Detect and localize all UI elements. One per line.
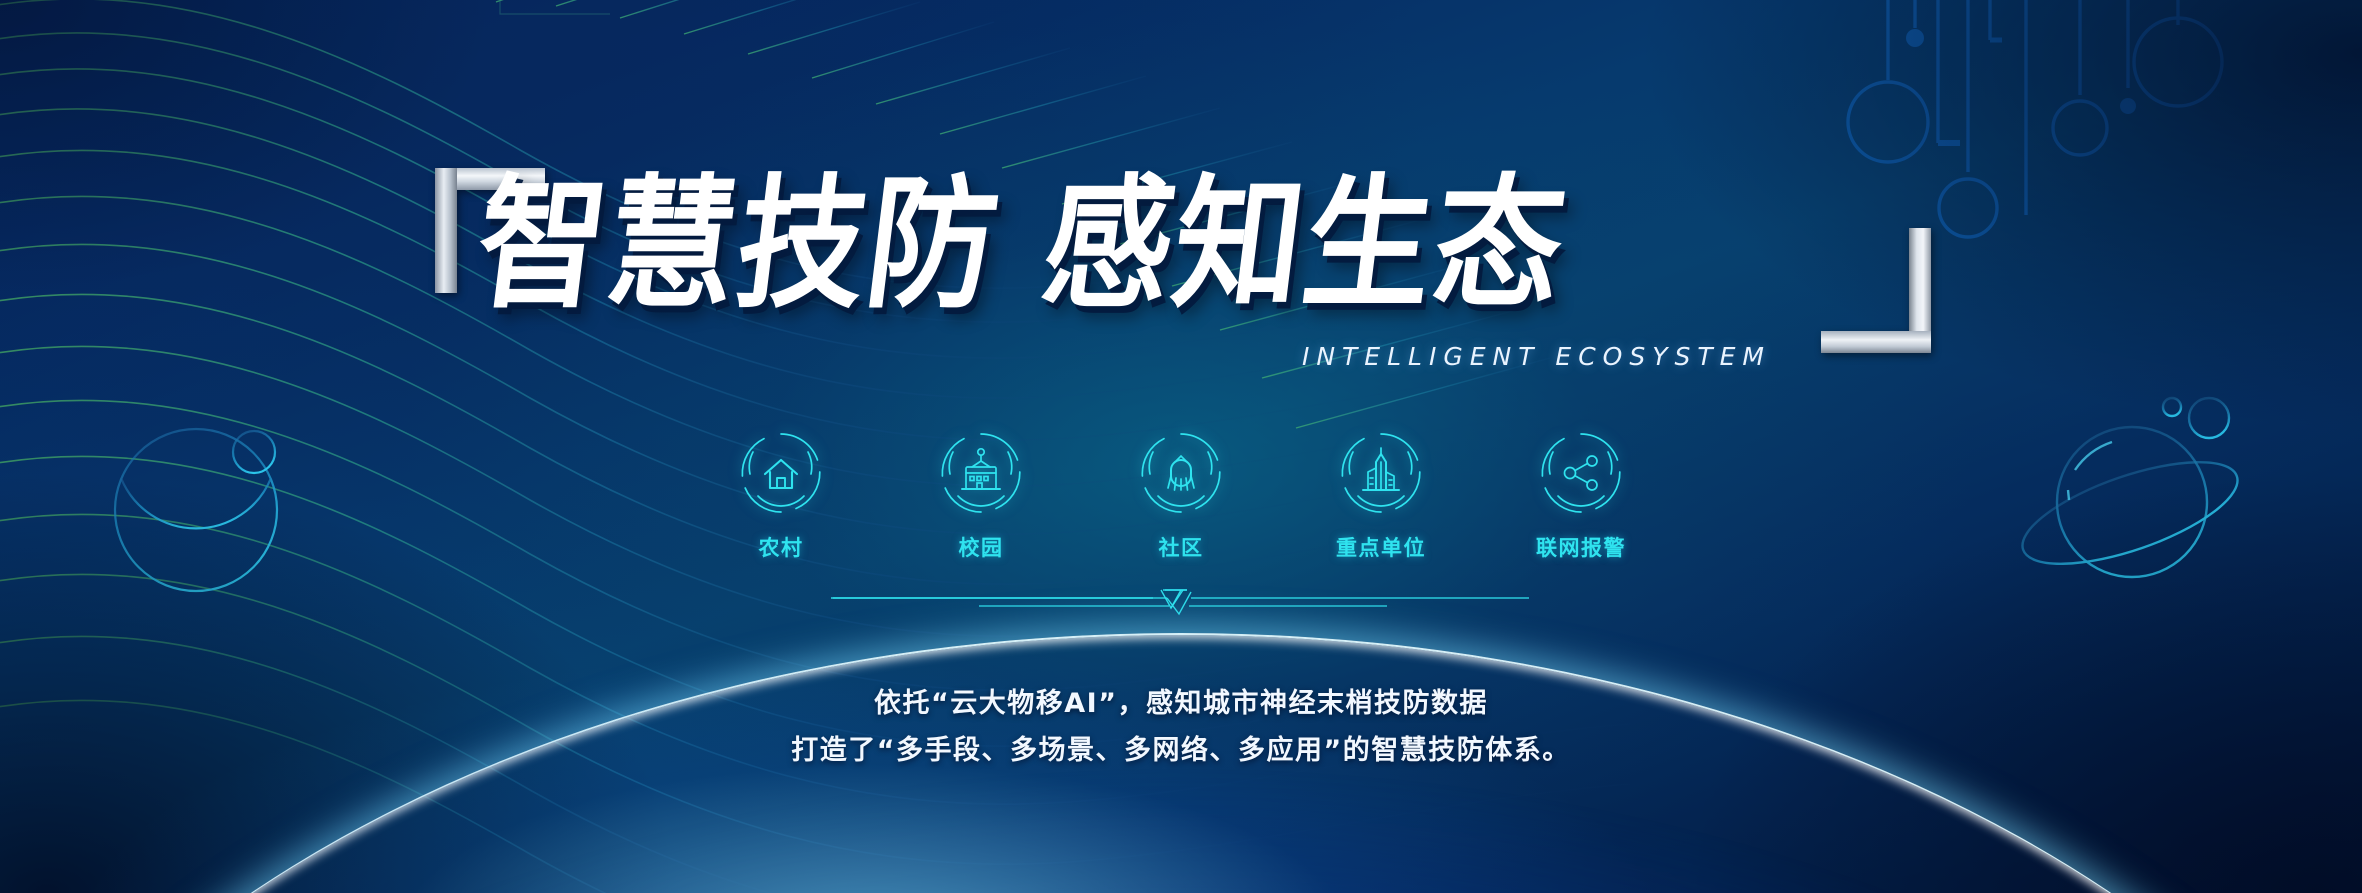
icon-ring-key-units	[1338, 430, 1424, 516]
category-label: 农村	[759, 532, 804, 562]
icon-ring-community	[1138, 430, 1224, 516]
category-label: 联网报警	[1536, 532, 1626, 562]
category-item-community[interactable]: 社区	[1116, 430, 1246, 562]
section-divider	[831, 588, 1531, 624]
banner-root: 智慧技防 感知生态 INTELLIGENT ECOSYSTEM	[0, 0, 2362, 893]
category-icon-row: 农村	[716, 430, 1646, 562]
category-item-rural[interactable]: 农村	[716, 430, 846, 562]
category-label: 校园	[959, 532, 1004, 562]
house-icon	[738, 430, 824, 516]
description-block: 依托“云大物移AI”，感知城市神经末梢技防数据 打造了“多手段、多场景、多网络、…	[791, 680, 1571, 775]
icon-ring-networked-alarm	[1538, 430, 1624, 516]
page-subtitle: INTELLIGENT ECOSYSTEM	[1302, 342, 1771, 371]
corner-bracket-bottom-right-icon	[1821, 228, 1931, 353]
community-people-icon	[1138, 430, 1224, 516]
skyscraper-icon	[1338, 430, 1424, 516]
icon-ring-rural	[738, 430, 824, 516]
category-item-networked-alarm[interactable]: 联网报警	[1516, 430, 1646, 562]
divider-line-icon	[831, 588, 1531, 624]
category-label: 重点单位	[1336, 532, 1426, 562]
page-title: 智慧技防 感知生态	[469, 174, 1573, 317]
category-item-key-units[interactable]: 重点单位	[1316, 430, 1446, 562]
icon-ring-campus	[938, 430, 1024, 516]
description-line-1: 依托“云大物移AI”，感知城市神经末梢技防数据	[791, 680, 1571, 727]
description-line-2: 打造了“多手段、多场景、多网络、多应用”的智慧技防体系。	[791, 727, 1571, 774]
share-network-icon	[1538, 430, 1624, 516]
content-root: 智慧技防 感知生态 INTELLIGENT ECOSYSTEM	[0, 0, 2362, 893]
category-item-campus[interactable]: 校园	[916, 430, 1046, 562]
school-building-icon	[938, 430, 1024, 516]
title-block: 智慧技防 感知生态 INTELLIGENT ECOSYSTEM	[421, 150, 1941, 380]
category-label: 社区	[1159, 532, 1204, 562]
